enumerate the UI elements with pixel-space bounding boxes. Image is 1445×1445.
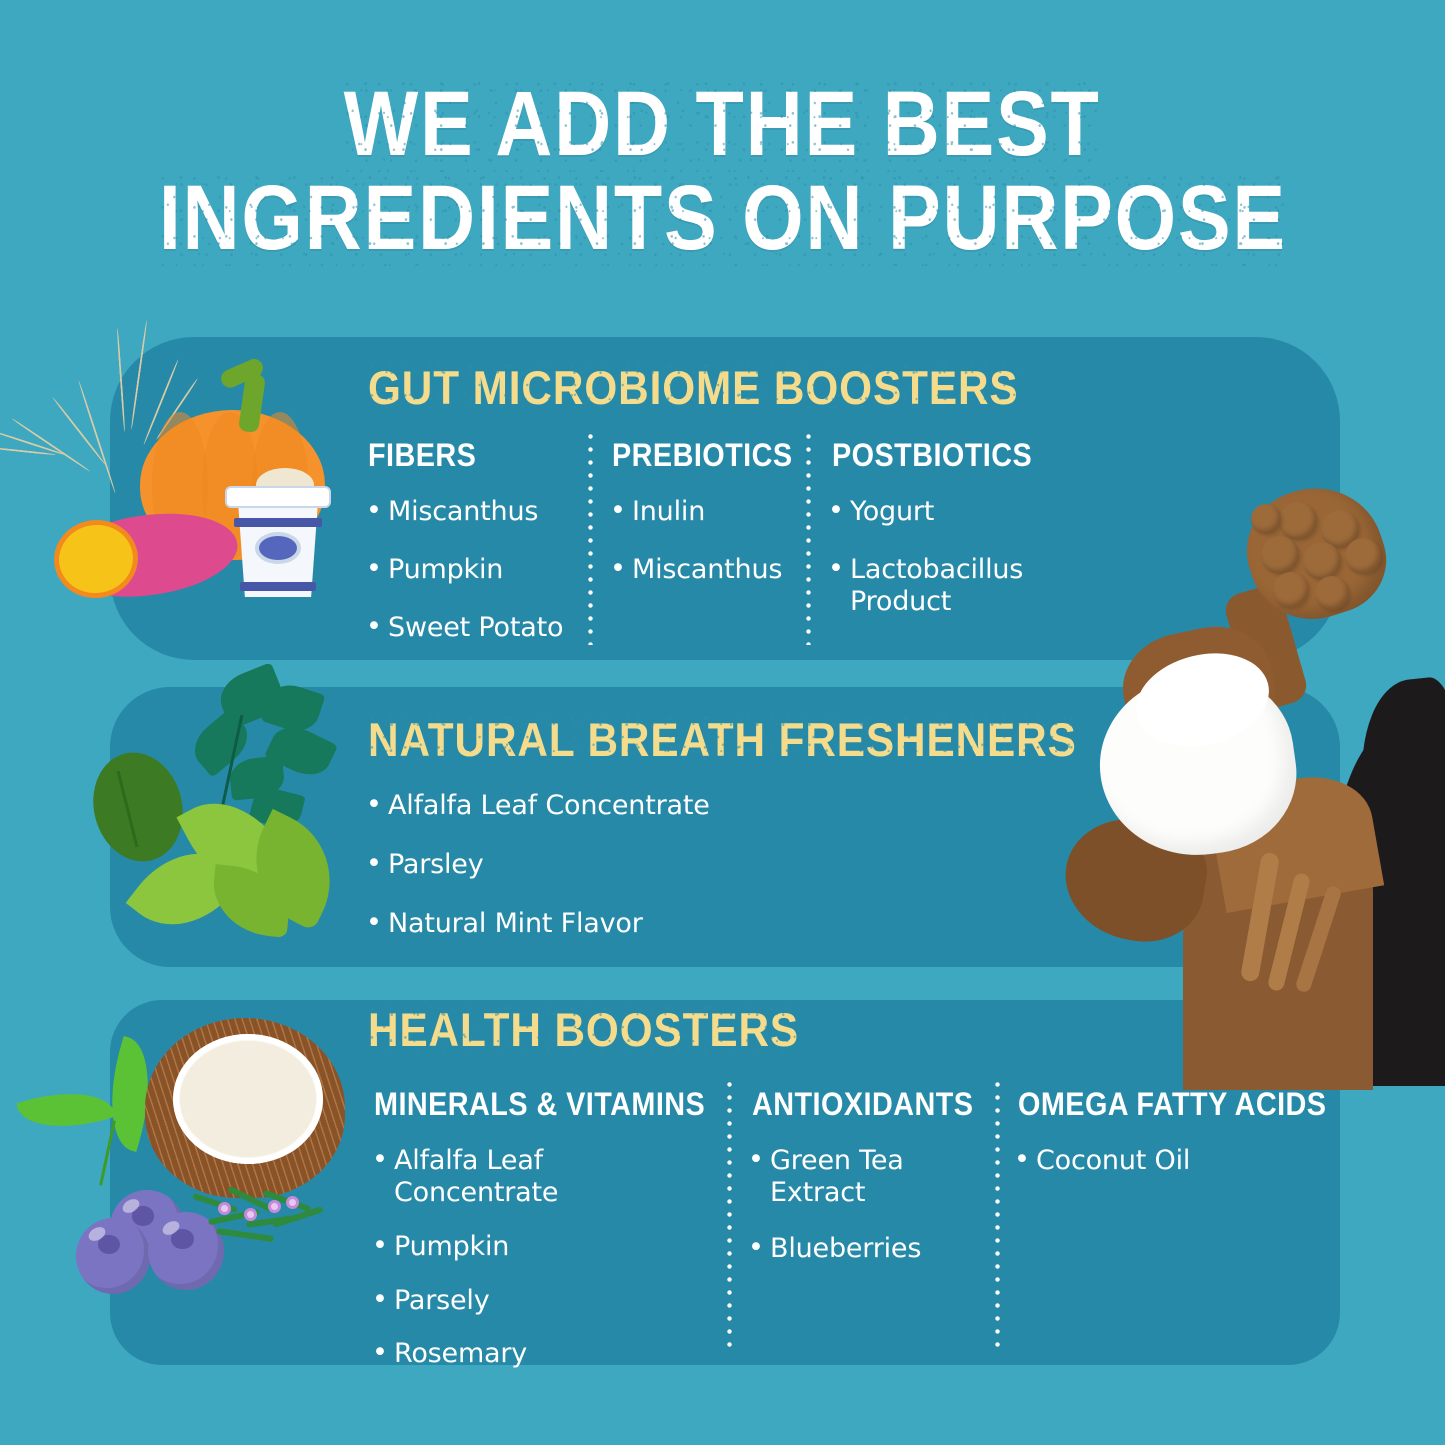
page-title-line-1: WE ADD THE BEST <box>344 78 1101 172</box>
coconut-blueberries-greentea-icon <box>10 1000 360 1300</box>
column-heading-postbiotics: POSTBIOTICS <box>832 437 1032 474</box>
column-heading-fibers: FIBERS <box>368 437 476 474</box>
column-heading-prebiotics: PREBIOTICS <box>612 437 793 474</box>
list-postbiotics: Yogurt Lactobacillus Product <box>828 496 1043 644</box>
list-item: Yogurt <box>828 496 1043 528</box>
column-divider <box>806 430 811 645</box>
column-divider <box>995 1078 1000 1350</box>
pumpkin-sweet-potato-yogurt-icon <box>20 320 360 650</box>
list-item: Lactobacillus Product <box>828 554 1043 618</box>
list-minerals-vitamins: Alfalfa Leaf Concentrate Pumpkin Parsely… <box>372 1145 712 1396</box>
list-item: Pumpkin <box>372 1231 712 1263</box>
list-item: Alfalfa Leaf Concentrate <box>372 1145 712 1209</box>
column-heading-minerals-vitamins: MINERALS & VITAMINS <box>374 1086 705 1123</box>
parsley-mint-alfalfa-icon <box>80 672 380 962</box>
list-item: Coconut Oil <box>1014 1145 1254 1177</box>
column-heading-antioxidants: ANTIOXIDANTS <box>752 1086 973 1123</box>
section-title-health-boosters: HEALTH BOOSTERS <box>368 1002 799 1057</box>
list-item: Miscanthus <box>366 496 576 528</box>
list-omega-fatty-acids: Coconut Oil <box>1014 1145 1254 1203</box>
list-item: Parsley <box>366 849 846 881</box>
list-breath-fresheners: Alfalfa Leaf Concentrate Parsley Natural… <box>366 790 846 966</box>
ingredients-poster: WE ADD THE BEST INGREDIENTS ON PURPOSE G… <box>0 0 1445 1445</box>
list-item: Rosemary <box>372 1338 712 1370</box>
dog-paw-holding-dental-chew-icon <box>1065 480 1445 1080</box>
column-divider <box>588 430 593 645</box>
list-item: Inulin <box>610 496 800 528</box>
list-item: Miscanthus <box>610 554 800 586</box>
list-item: Pumpkin <box>366 554 576 586</box>
list-item: Parsely <box>372 1285 712 1317</box>
list-prebiotics: Inulin Miscanthus <box>610 496 800 612</box>
column-heading-omega-fatty-acids: OMEGA FATTY ACIDS <box>1018 1086 1326 1123</box>
list-item: Sweet Potato <box>366 612 576 644</box>
column-divider <box>727 1078 732 1350</box>
list-item: Natural Mint Flavor <box>366 908 846 940</box>
list-fibers: Miscanthus Pumpkin Sweet Potato <box>366 496 576 670</box>
section-title-gut-microbiome: GUT MICROBIOME BOOSTERS <box>368 360 1019 415</box>
section-title-natural-breath-fresheners: NATURAL BREATH FRESHENERS <box>368 712 1077 767</box>
page-title: WE ADD THE BEST INGREDIENTS ON PURPOSE <box>0 78 1445 266</box>
list-item: Green Tea Extract <box>748 1145 928 1209</box>
list-item: Blueberries <box>748 1233 928 1265</box>
page-title-line-2: INGREDIENTS ON PURPOSE <box>158 172 1286 266</box>
list-antioxidants: Green Tea Extract Blueberries <box>748 1145 928 1291</box>
list-item: Alfalfa Leaf Concentrate <box>366 790 846 822</box>
